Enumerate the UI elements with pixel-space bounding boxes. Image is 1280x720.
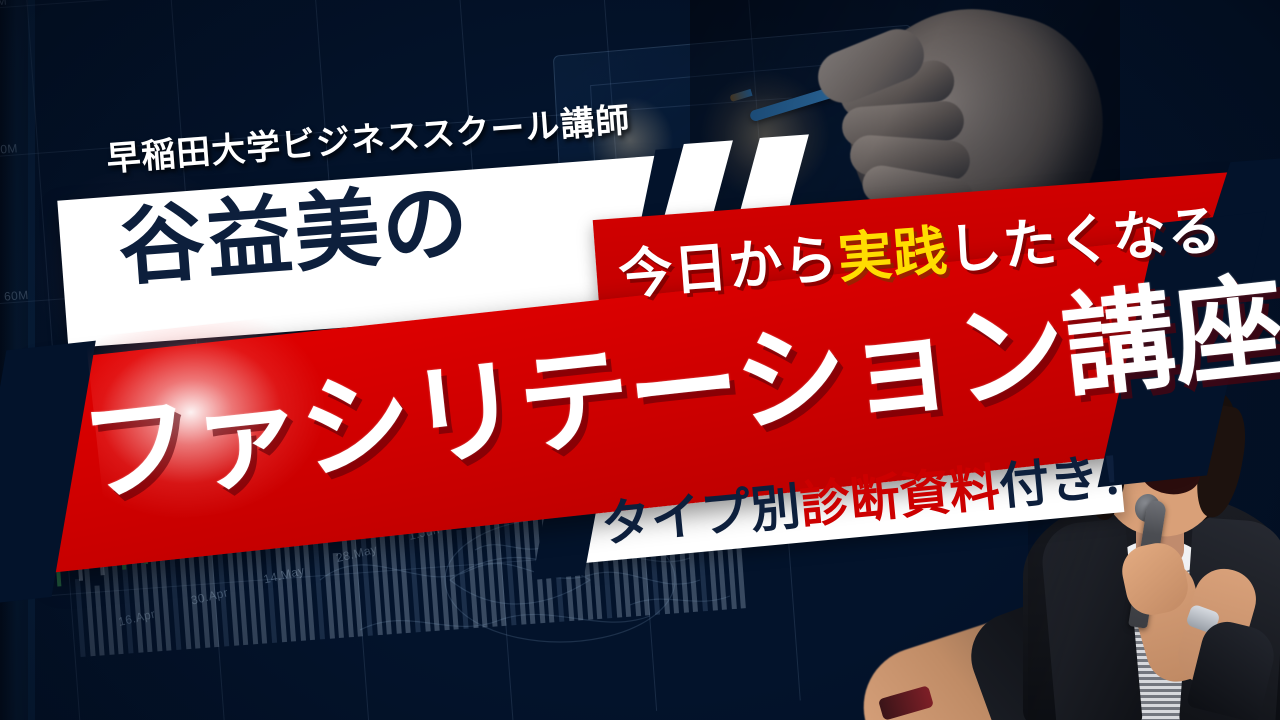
subtitle-highlight: 実践: [836, 221, 950, 289]
thumbnail-canvas: 80M70M60M50M40M 16.Apr30.Apr14.May28.May…: [0, 0, 1280, 720]
